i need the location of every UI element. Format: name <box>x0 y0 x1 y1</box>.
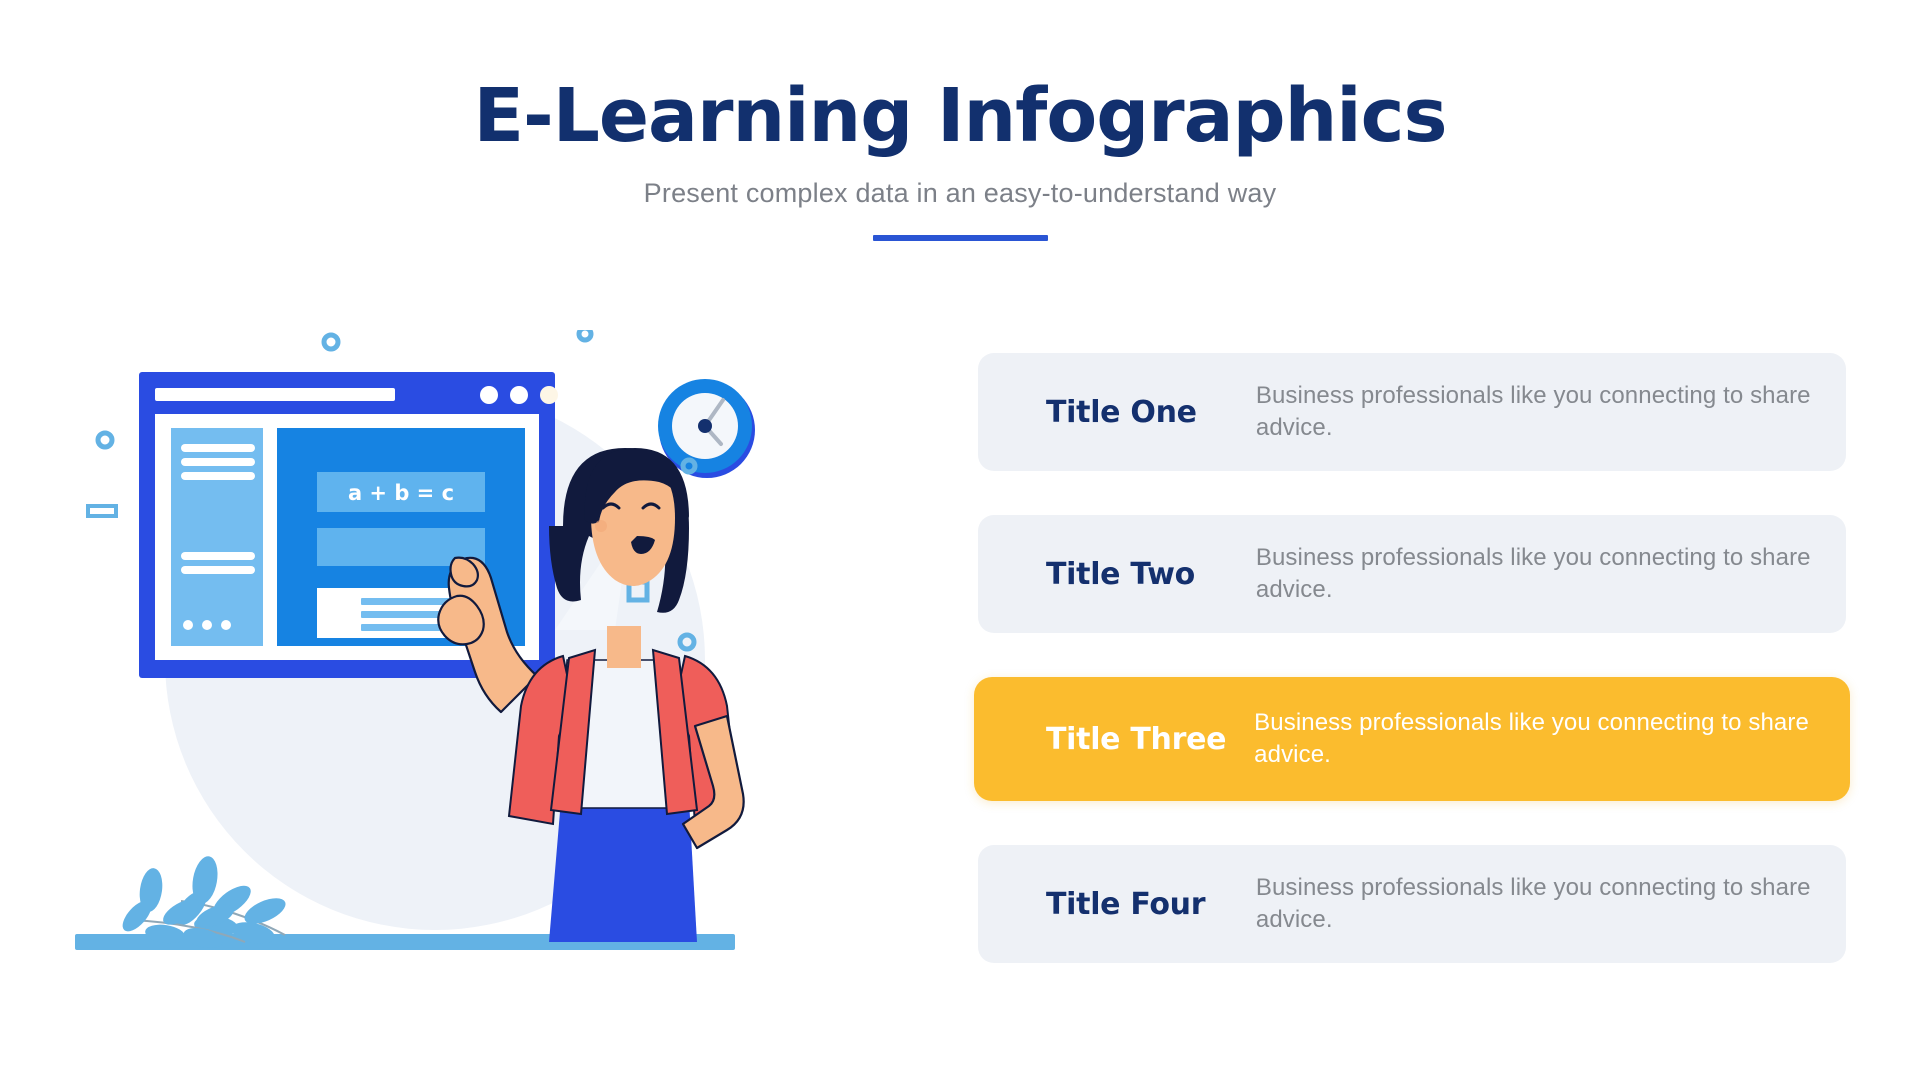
window-url-bar <box>155 388 395 401</box>
card-item-3[interactable]: Title Three Business professionals like … <box>974 677 1850 801</box>
page-subtitle: Present complex data in an easy-to-under… <box>0 178 1920 209</box>
card-title-2: Title Two <box>978 557 1256 592</box>
card-title-4: Title Four <box>978 887 1256 922</box>
card-item-1[interactable]: Title One Business professionals like yo… <box>978 353 1846 471</box>
card-item-2[interactable]: Title Two Business professionals like yo… <box>978 515 1846 633</box>
card-description-3: Business professionals like you connecti… <box>1254 707 1850 770</box>
sidebar-panel <box>171 428 263 646</box>
deco-dash-1 <box>88 506 116 516</box>
slide-root: E-Learning Infographics Present complex … <box>0 0 1920 1080</box>
card-description-2: Business professionals like you connecti… <box>1256 542 1846 605</box>
title-divider <box>873 235 1048 241</box>
header: E-Learning Infographics Present complex … <box>0 0 1920 241</box>
e-learning-illustration: a + b = c <box>55 330 955 1010</box>
card-item-4[interactable]: Title Four Business professionals like y… <box>978 845 1846 963</box>
deco-ring-2 <box>324 335 338 349</box>
window-dot-2 <box>510 386 528 404</box>
deco-ring-3 <box>579 330 591 340</box>
cards-list: Title One Business professionals like yo… <box>978 353 1846 1007</box>
equation-text: a + b = c <box>348 481 454 505</box>
page-title: E-Learning Infographics <box>0 78 1920 156</box>
deco-ring-1 <box>98 433 112 447</box>
card-title-3: Title Three <box>974 722 1254 757</box>
card-title-1: Title One <box>978 395 1256 430</box>
card-description-1: Business professionals like you connecti… <box>1256 380 1846 443</box>
window-dot-3 <box>540 386 558 404</box>
card-description-4: Business professionals like you connecti… <box>1256 872 1846 935</box>
window-dot-1 <box>480 386 498 404</box>
